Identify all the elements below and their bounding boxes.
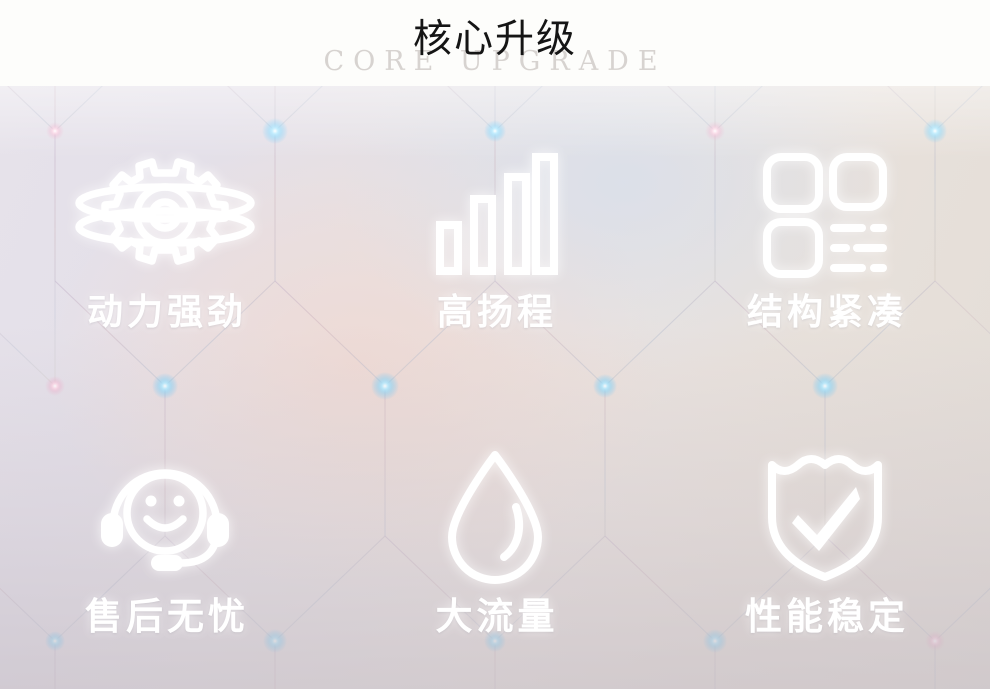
feature-item-compact[interactable]: 结构紧凑	[660, 86, 990, 388]
feature-label-power: 动力强劲	[83, 295, 247, 331]
bar-chart-icon	[430, 149, 560, 281]
feature-item-support[interactable]: 售后无忧	[0, 388, 330, 689]
feature-label-support: 售后无忧	[81, 598, 249, 635]
gear-orbit-icon	[70, 149, 260, 281]
feature-stage: 动力强劲 高扬程	[0, 86, 990, 689]
headset-smiley-icon	[95, 452, 235, 584]
feature-grid: 动力强劲 高扬程	[0, 86, 990, 689]
feature-item-stability[interactable]: 性能稳定	[660, 388, 990, 689]
feature-item-head[interactable]: 高扬程	[330, 86, 660, 388]
feature-label-stability: 性能稳定	[741, 598, 909, 635]
page-title: 核心升级	[0, 20, 990, 59]
banner-header: CORE UPGRADE 核心升级	[0, 0, 990, 86]
shield-check-icon	[764, 452, 886, 584]
feature-label-compact: 结构紧凑	[743, 295, 907, 331]
feature-item-power[interactable]: 动力强劲	[0, 86, 330, 388]
layout-grid-icon	[762, 149, 888, 281]
feature-label-flow: 大流量	[432, 598, 559, 635]
feature-item-flow[interactable]: 大流量	[330, 388, 660, 689]
core-upgrade-banner: CORE UPGRADE 核心升级	[0, 0, 990, 689]
feature-label-head: 高扬程	[433, 295, 557, 331]
water-drop-icon	[440, 452, 550, 584]
